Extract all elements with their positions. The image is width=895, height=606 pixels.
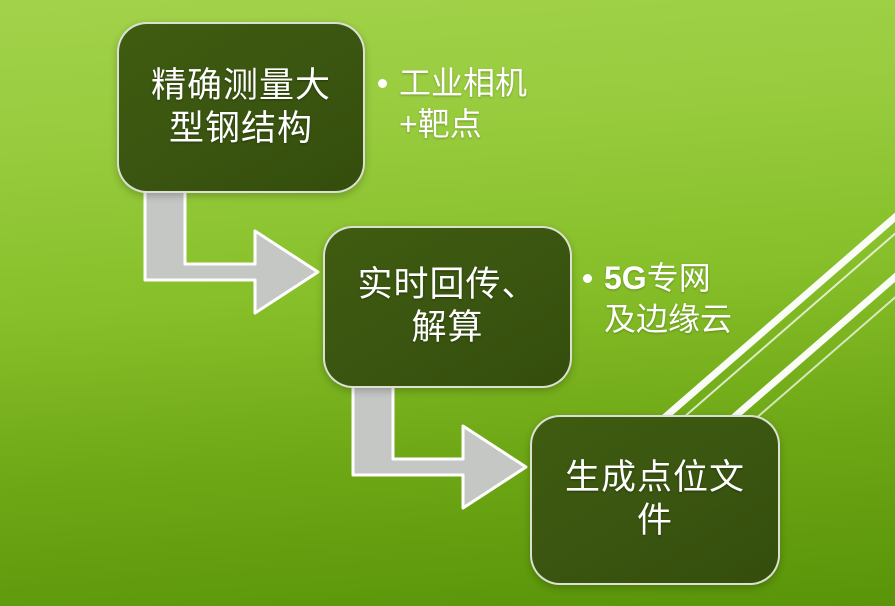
callout-2-text: 5G专网 及边缘云 xyxy=(604,258,732,340)
bullet-dot-icon xyxy=(378,79,387,88)
process-step-box-2[interactable]: 实时回传、 解算 xyxy=(323,226,572,388)
connector-arrow-step2-step3 xyxy=(348,381,548,541)
bullet-dot-icon xyxy=(583,274,592,283)
process-step-label-2: 实时回传、 解算 xyxy=(341,264,553,349)
connector-arrow-step1-step2 xyxy=(140,186,340,346)
callout-2: 5G专网 及边缘云 xyxy=(583,258,783,340)
process-step-box-3[interactable]: 生成点位文 件 xyxy=(530,415,780,585)
process-step-box-1[interactable]: 精确测量大 型钢结构 xyxy=(117,22,365,193)
callout-1-text: 工业相机 +靶点 xyxy=(399,63,527,145)
slide-canvas: 精确测量大 型钢结构 实时回传、 解算 生成点位文 件 工业相机 +靶点 5G专… xyxy=(0,0,895,606)
callout-2-bold-prefix: 5G xyxy=(604,260,647,296)
process-step-label-1: 精确测量大 型钢结构 xyxy=(135,65,347,150)
callout-1: 工业相机 +靶点 xyxy=(378,63,568,145)
process-step-label-3: 生成点位文 件 xyxy=(549,457,761,542)
